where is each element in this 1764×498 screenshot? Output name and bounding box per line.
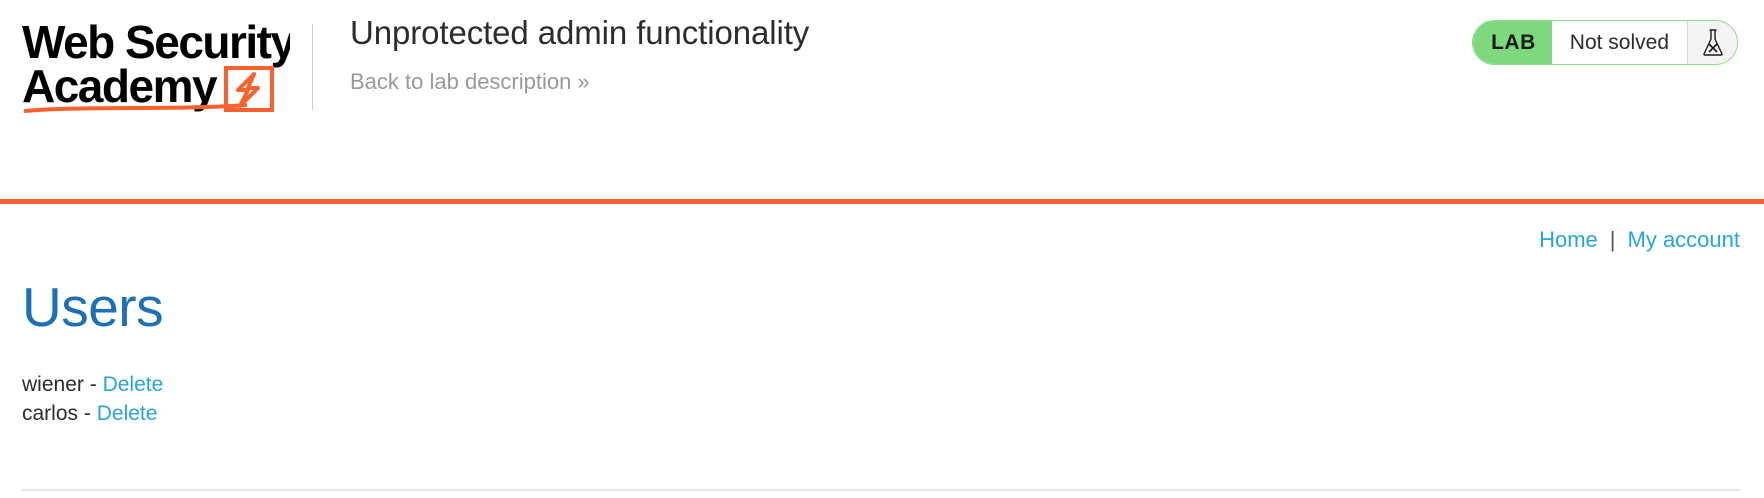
back-to-lab-description-link[interactable]: Back to lab description» [350, 69, 588, 95]
lab-status-widget[interactable]: LAB Not solved [1472, 20, 1738, 65]
nav-link-my-account[interactable]: My account [1628, 227, 1741, 252]
page-title: Users [22, 277, 1742, 338]
list-item: carlos - Delete [22, 399, 1742, 429]
lab-status-text: Not solved [1552, 21, 1687, 64]
header-vertical-divider [312, 24, 313, 110]
web-security-academy-logo[interactable]: Web Security Academy [22, 14, 290, 114]
logo-svg: Web Security Academy [22, 14, 290, 114]
list-item: wiener - Delete [22, 370, 1742, 400]
logo-text-line2: Academy [22, 60, 218, 112]
flask-x-icon-svg [1700, 28, 1726, 58]
lab-tag-badge: LAB [1473, 21, 1552, 64]
user-dash: - [90, 373, 97, 396]
flask-x-icon[interactable] [1687, 21, 1737, 64]
top-nav-links: Home|My account [22, 204, 1742, 251]
user-dash: - [84, 402, 91, 425]
main-content: Home|My account Users wiener - Delete ca… [0, 204, 1764, 498]
nav-separator: | [1610, 227, 1616, 252]
back-link-label: Back to lab description [350, 69, 571, 94]
header-title-block: Unprotected admin functionality Back to … [350, 12, 809, 96]
lightning-bolt-icon [226, 68, 272, 110]
lab-header: Web Security Academy Unprotected admin f… [0, 0, 1764, 199]
nav-link-home[interactable]: Home [1539, 227, 1598, 252]
lab-title: Unprotected admin functionality [350, 12, 809, 53]
footer-divider [22, 489, 1740, 491]
delete-user-link[interactable]: Delete [103, 373, 164, 396]
user-name: wiener [22, 373, 84, 396]
delete-user-link[interactable]: Delete [97, 402, 158, 425]
user-name: carlos [22, 402, 78, 425]
user-list: wiener - Delete carlos - Delete [22, 370, 1742, 430]
double-chevron-right-icon: » [577, 69, 587, 94]
